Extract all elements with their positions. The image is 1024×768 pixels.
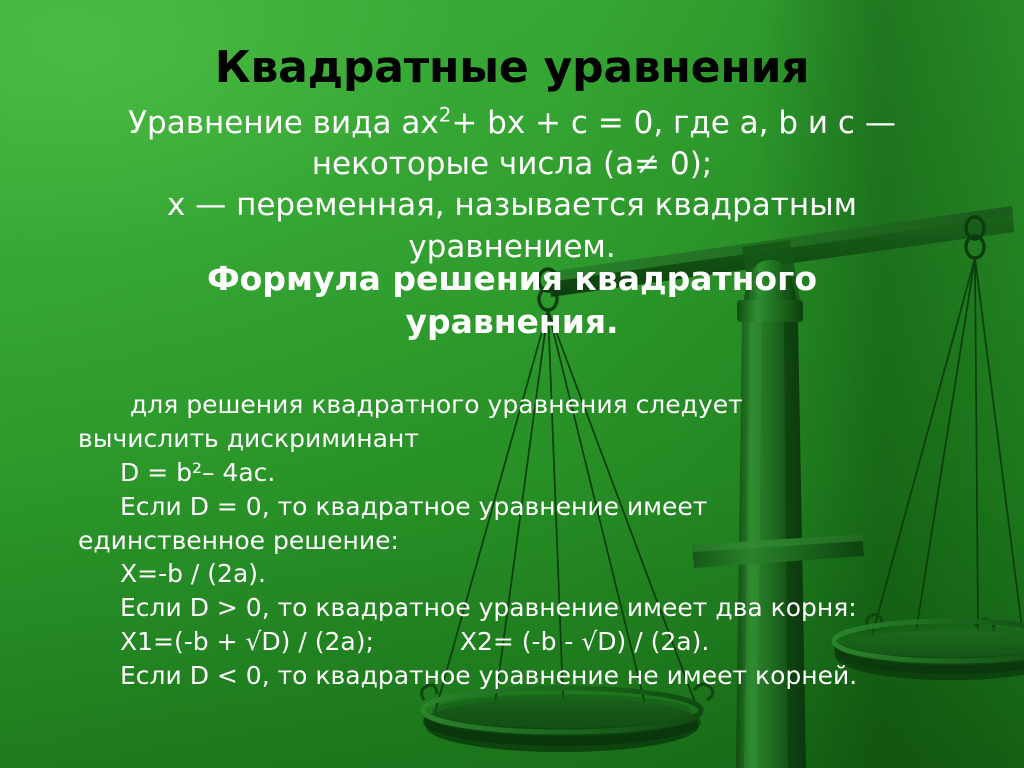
- intro-line-1: Уравнение вида ax2+ bx + c = 0, где a, b…: [62, 103, 962, 144]
- slide-canvas: Квадратные уравнения Уравнение вида ax2+…: [0, 0, 1024, 768]
- body-line-2: вычислить дискриминант: [78, 422, 978, 456]
- intro-line-1a: Уравнение вида ax: [128, 105, 439, 141]
- body-paragraph: для решения квадратного уравнения следуе…: [78, 388, 978, 693]
- formula-heading-line-2: уравнения.: [62, 301, 962, 344]
- body-line-6: X=-b / (2a).: [78, 557, 978, 591]
- body-line-7: Если D > 0, то квадратное уравнение имее…: [78, 591, 978, 625]
- body-line-5: единственное решение:: [78, 524, 978, 558]
- formula-heading: Формула решения квадратного уравнения.: [62, 258, 962, 344]
- root-formula-x1: X1=(-b + √D) / (2a);: [120, 627, 374, 656]
- intro-line-1b: + bx + c = 0, где a, b и c —: [451, 105, 895, 141]
- slide-text: Квадратные уравнения Уравнение вида ax2+…: [0, 0, 1024, 768]
- body-line-8: X1=(-b + √D) / (2a);X2= (-b - √D) / (2a)…: [78, 625, 978, 659]
- body-line-1: для решения квадратного уравнения следуе…: [78, 388, 978, 422]
- slide-title: Квадратные уравнения: [0, 46, 1024, 90]
- body-line-4: Если D = 0, то квадратное уравнение имее…: [78, 490, 978, 524]
- formula-heading-line-1: Формула решения квадратного: [62, 258, 962, 301]
- intro-paragraph: Уравнение вида ax2+ bx + c = 0, где a, b…: [62, 103, 962, 268]
- intro-exponent: 2: [439, 104, 452, 127]
- body-line-9: Если D < 0, то квадратное уравнение не и…: [78, 659, 978, 693]
- intro-line-2: некоторые числа (a≠ 0);: [62, 144, 962, 185]
- body-line-3: D = b²– 4ac.: [78, 456, 978, 490]
- root-formula-x2: X2= (-b - √D) / (2a).: [460, 627, 709, 656]
- intro-line-3: x — переменная, называется квадратным: [62, 185, 962, 226]
